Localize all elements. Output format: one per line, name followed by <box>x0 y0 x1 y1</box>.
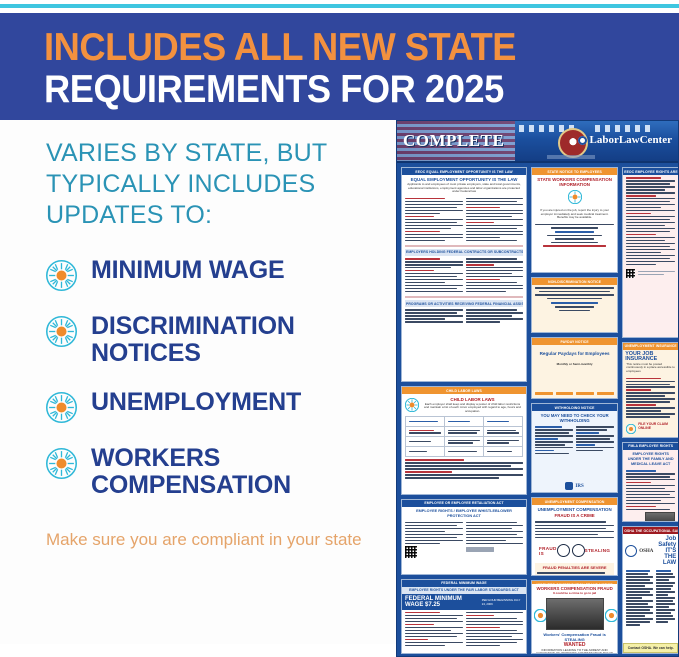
sunburst-icon <box>46 448 77 479</box>
poster-masthead: COMPLETE LaborLawCenter <box>397 121 678 163</box>
list-item-label: UNEMPLOYMENT <box>91 389 301 416</box>
content-area: VARIES BY STATE, BUT TYPICALLY INCLUDES … <box>0 120 679 657</box>
panel-federal-minimum-wage: FEDERAL MINIMUM WAGE EMPLOYEE RIGHTS UND… <box>401 579 527 654</box>
panel-body: EMPLOYERS HOLDING FEDERAL CONTRACTS OR S… <box>402 196 526 381</box>
stars-right-icon <box>595 125 651 132</box>
labor-law-poster[interactable]: COMPLETE LaborLawCenter EEOC EQUAL EMPLO… <box>396 120 679 657</box>
panel-header: STATE NOTICE TO EMPLOYEES <box>532 168 617 175</box>
brand-label: LaborLawCenter <box>590 134 673 146</box>
fraud-photo-row <box>532 598 617 630</box>
panel-subtitle: Applicants to and employees of most priv… <box>402 183 526 196</box>
osha-branding: OSHA Job Safety IT'S THE LAW <box>623 534 678 568</box>
panel-title: FRAUD PENALTIES ARE SEVERE <box>537 565 612 572</box>
poster-columns: EEOC EQUAL EMPLOYMENT OPPORTUNITY IS THE… <box>397 163 678 657</box>
panel-header: WITHHOLDING NOTICE <box>532 404 617 411</box>
panel-osha: OSHA THE OCCUPATIONAL SAFETY AND HEALTH … <box>622 526 679 654</box>
panel-header: PAYDAY NOTICE <box>532 338 617 345</box>
sunburst-icon <box>568 190 582 204</box>
panel-title: YOU MAY NEED TO CHECK YOUR WITHHOLDING <box>532 411 617 424</box>
promo-page: INCLUDES ALL NEW STATE REQUIREMENTS FOR … <box>0 0 679 644</box>
fraud-left-word: FRAUD IS <box>539 546 557 556</box>
table-row <box>406 417 523 427</box>
poster-column-middle: STATE NOTICE TO EMPLOYEES STATE WORKERS … <box>531 167 618 654</box>
panel-header: FEDERAL MINIMUM WAGE <box>402 580 526 587</box>
fmla-photo <box>645 512 675 521</box>
panel-subheader: EMPLOYEE RIGHTS UNDER THE FAIR LABOR STA… <box>402 587 526 594</box>
sunburst-icon <box>46 392 77 423</box>
brand-logo-icon <box>578 136 587 145</box>
minimum-wage-amount: FEDERAL MINIMUM WAGE $7.25 <box>405 596 482 608</box>
panel-title: UNEMPLOYMENT COMPENSATION <box>532 505 617 513</box>
sunburst-icon <box>46 260 77 291</box>
poster-column-left: EEOC EQUAL EMPLOYMENT OPPORTUNITY IS THE… <box>401 167 527 654</box>
panel-subtitle: This notice must be posted continuously … <box>623 363 678 376</box>
handcuffs-icon <box>557 544 585 557</box>
fraud-is-stealing-row: FRAUD IS STEALING <box>535 542 614 559</box>
list-item-label: WORKERS COMPENSATION <box>91 445 382 499</box>
panel-whistleblower: EMPLOYEE OR EMPLOYEE RETALIATION ACT EMP… <box>401 499 527 575</box>
panel-header: EEOC EMPLOYEE RIGHTS ARE LAW <box>623 168 678 175</box>
fraud-caption: Workers' Compensation Fraud is STEALING <box>532 630 617 643</box>
panel-label: Monthly or Semi-monthly <box>532 357 617 369</box>
table-row <box>406 427 523 437</box>
osha-title: Job Safety IT'S THE LAW <box>655 536 676 566</box>
qr-code-icon <box>626 269 635 278</box>
panel-header: EEOC EQUAL EMPLOYMENT OPPORTUNITY IS THE… <box>402 168 526 175</box>
panel-title: EMPLOYEE RIGHTS / EMPLOYEE WHISTLEBLOWER… <box>402 507 526 520</box>
table-row <box>406 437 523 447</box>
wanted-subtext: INFORMATION LEADING TO THE ARREST AND CO… <box>532 649 617 654</box>
panel-header: UNEMPLOYMENT COMPENSATION <box>532 498 617 505</box>
panel-title: EMPLOYEE RIGHTS UNDER THE FAMILY AND MED… <box>623 450 678 468</box>
minimum-wage-note: PER HOUR BEGINNING JULY 24, 2009 <box>482 598 523 606</box>
panel-nondiscrimination: NON-DISCRIMINATION NOTICE <box>531 277 618 333</box>
child-labor-table <box>405 416 523 457</box>
section-divider <box>405 296 523 298</box>
poster-column-right: EEOC EMPLOYEE RIGHTS ARE LAW <box>622 167 679 654</box>
headline-line-1: INCLUDES ALL NEW STATE <box>44 27 635 69</box>
panel-workers-comp-fraud: WORKERS COMPENSATION FRAUD NOTICE WORKER… <box>531 580 618 654</box>
panel-irs-withholding: WITHHOLDING NOTICE YOU MAY NEED TO CHECK… <box>531 403 618 493</box>
panel-subheader: PROGRAMS OR ACTIVITIES RECEIVING FEDERAL… <box>405 300 523 307</box>
table-header-cell <box>484 417 523 427</box>
left-column: VARIES BY STATE, BUT TYPICALLY INCLUDES … <box>0 120 392 657</box>
section-divider <box>405 245 523 247</box>
sunburst-icon <box>626 421 636 431</box>
panel-header: OSHA THE OCCUPATIONAL SAFETY AND HEALTH … <box>623 527 678 534</box>
jail-photo <box>546 598 604 630</box>
panel-header: NON-DISCRIMINATION NOTICE <box>532 278 617 285</box>
osha-seal-icon <box>625 545 637 557</box>
list-item: MINIMUM WAGE <box>46 257 382 291</box>
fraud-right-word: STEALING <box>585 548 611 553</box>
osha-logo-label: OSHA <box>639 549 653 554</box>
list-item: DISCRIMINATION NOTICES <box>46 313 382 367</box>
poster-brand-complete: COMPLETE <box>403 131 504 151</box>
laborlaw-brand: LaborLawCenter <box>578 134 673 146</box>
list-item: WORKERS COMPENSATION <box>46 445 382 499</box>
compliance-footnote: Make sure you are compliant in your stat… <box>46 529 382 551</box>
panel-subtitle: Each employer shall keep and display a p… <box>422 402 523 414</box>
table-row <box>406 447 523 457</box>
panel-workers-comp-info: STATE NOTICE TO EMPLOYEES STATE WORKERS … <box>531 167 618 273</box>
panel-employee-rights: EEOC EMPLOYEE RIGHTS ARE LAW <box>622 167 679 338</box>
list-item-label: DISCRIMINATION NOTICES <box>91 313 382 367</box>
panel-header: FMLA EMPLOYEE RIGHTS <box>623 443 678 450</box>
sunburst-icon <box>605 609 615 619</box>
intro-text: VARIES BY STATE, BUT TYPICALLY INCLUDES … <box>46 138 382 231</box>
panel-header: CHILD LABOR LAWS <box>402 387 526 394</box>
list-item: UNEMPLOYMENT <box>46 389 382 423</box>
sunburst-icon <box>46 316 77 347</box>
panel-job-insurance: UNEMPLOYMENT INSURANCE YOUR JOB INSURANC… <box>622 342 679 438</box>
panel-body-text: If you are injured on the job, report th… <box>532 209 617 222</box>
panel-title: Regular Paydays for Employees <box>532 345 617 357</box>
qr-code-icon <box>405 546 417 558</box>
insurance-note: FILE YOUR CLAIM ONLINE <box>638 422 675 430</box>
irs-label: IRS <box>575 484 583 489</box>
fraud-penalties-box: FRAUD PENALTIES ARE SEVERE <box>535 563 614 575</box>
sunburst-icon <box>534 609 544 619</box>
panel-title: YOUR JOB INSURANCE <box>623 350 678 363</box>
irs-logo-icon <box>565 482 573 490</box>
panel-eeo: EEOC EQUAL EMPLOYMENT OPPORTUNITY IS THE… <box>401 167 527 382</box>
panel-child-labor: CHILD LABOR LAWS <box>401 386 527 495</box>
panel-unemployment-fraud: UNEMPLOYMENT COMPENSATION UNEMPLOYMENT C… <box>531 497 618 576</box>
panel-payday-notice: PAYDAY NOTICE Regular Paydays for Employ… <box>531 337 618 399</box>
table-header-cell <box>445 417 484 427</box>
panel-header: EMPLOYEE OR EMPLOYEE RETALIATION ACT <box>402 500 526 507</box>
panel-header: UNEMPLOYMENT INSURANCE <box>623 343 678 350</box>
seal-caption-bar <box>547 155 595 159</box>
osha-contact-callout: Contact OSHA. We can help. <box>623 643 678 653</box>
minimum-wage-banner: FEDERAL MINIMUM WAGE $7.25 PER HOUR BEGI… <box>402 594 526 610</box>
panel-subheader: EMPLOYERS HOLDING FEDERAL CONTRACTS OR S… <box>405 249 523 256</box>
panel-fmla: FMLA EMPLOYEE RIGHTS EMPLOYEE RIGHTS UND… <box>622 442 679 522</box>
benefit-list: MINIMUM WAGE <box>46 257 382 499</box>
sunburst-icon <box>405 398 419 412</box>
table-header-cell <box>406 417 445 427</box>
headline-banner: INCLUDES ALL NEW STATE REQUIREMENTS FOR … <box>0 13 679 120</box>
panel-title: STATE WORKERS COMPENSATION INFORMATION <box>532 175 617 188</box>
list-item-label: MINIMUM WAGE <box>91 257 284 284</box>
headline-line-2: REQUIREMENTS FOR 2025 <box>44 69 635 111</box>
